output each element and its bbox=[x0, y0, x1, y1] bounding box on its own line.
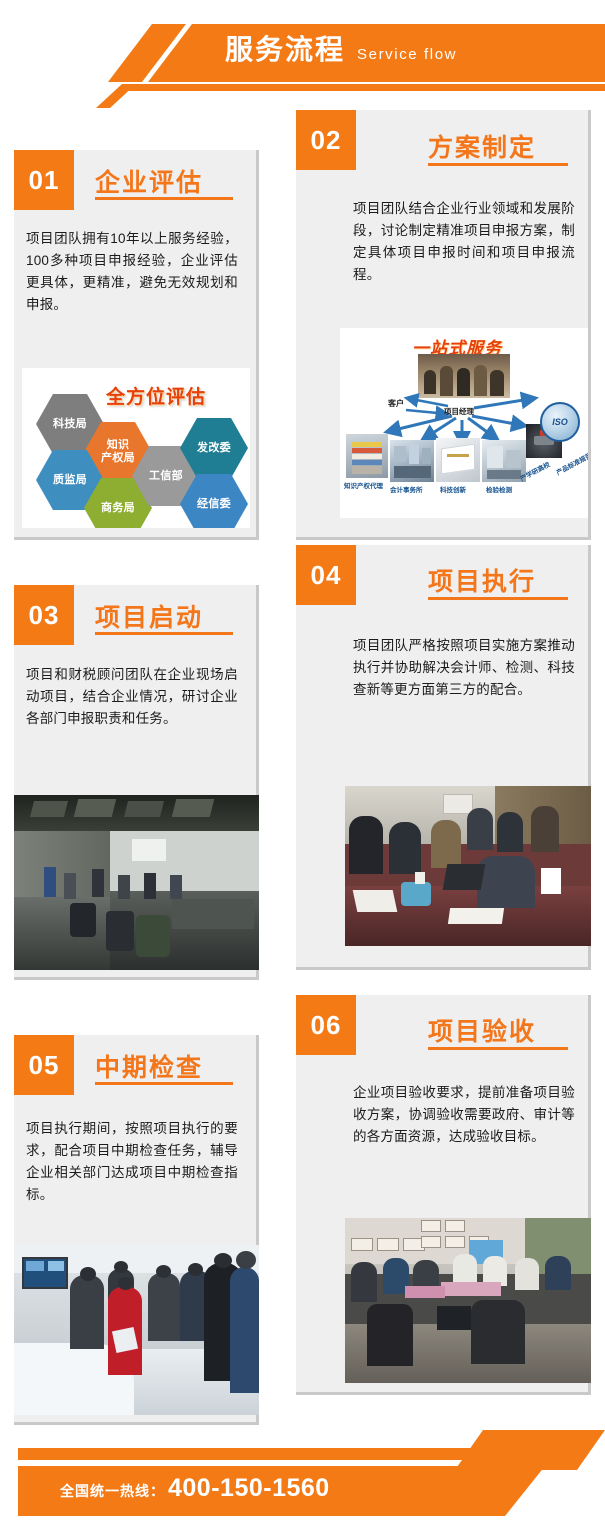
step-badge-05: 05 bbox=[14, 1035, 74, 1095]
service-flow-infographic: 服务流程 Service flow 01 企业评估 项目团队拥有10年以上服务经… bbox=[0, 0, 605, 1538]
hotline-label: 全国统一热线： bbox=[60, 1481, 165, 1501]
step-title-rule-03 bbox=[95, 632, 233, 635]
service-label-innovation: 科技创新 bbox=[440, 484, 466, 494]
service-label-manager: 项目经理 bbox=[444, 406, 474, 417]
footer-diagonal-tail bbox=[440, 1466, 580, 1516]
header-title-group: 服务流程 Service flow bbox=[225, 36, 457, 64]
step-title-rule-06 bbox=[428, 1047, 568, 1050]
page-footer: 全国统一热线： 400-150-1560 bbox=[0, 1430, 605, 1538]
step-photo-03 bbox=[14, 795, 259, 970]
step-title-03: 项目启动 bbox=[95, 598, 203, 634]
step-title-rule-05 bbox=[95, 1082, 233, 1085]
step-title-04: 项目执行 bbox=[428, 562, 536, 598]
iso-seal-icon: ISO bbox=[540, 402, 580, 442]
step-photo-05 bbox=[14, 1245, 259, 1415]
hotline-group: 全国统一热线： 400-150-1560 bbox=[60, 1474, 330, 1503]
step-title-rule-04 bbox=[428, 597, 568, 600]
step-body-04: 项目团队严格按照项目实施方案推动执行并协助解决会计师、检测、科技查新等更方面第三… bbox=[353, 635, 575, 701]
service-label-customer: 客户 bbox=[388, 398, 404, 409]
header-stripe bbox=[118, 84, 605, 100]
service-photo-accounting bbox=[390, 440, 434, 482]
service-label-accounting: 会计事务所 bbox=[390, 484, 423, 494]
step-title-05: 中期检查 bbox=[95, 1048, 203, 1084]
step-photo-06 bbox=[345, 1218, 591, 1383]
step-title-06: 项目验收 bbox=[428, 1012, 536, 1048]
page-header: 服务流程 Service flow bbox=[0, 0, 605, 108]
service-photo-innovation bbox=[436, 438, 480, 482]
step-title-rule-01 bbox=[95, 197, 233, 200]
step-title-01: 企业评估 bbox=[95, 163, 203, 199]
step-badge-04: 04 bbox=[296, 545, 356, 605]
one-stop-service-diagram: 一站式服务 客户 项目经理 bbox=[340, 328, 588, 518]
hotline-number[interactable]: 400-150-1560 bbox=[168, 1474, 330, 1503]
step-body-03: 项目和财税顾问团队在企业现场启动项目，结合企业情况，研讨企业各部门申报职责和任务… bbox=[26, 664, 238, 730]
service-photo-ip bbox=[346, 434, 388, 478]
page-subtitle: Service flow bbox=[357, 46, 457, 63]
step-badge-03: 03 bbox=[14, 585, 74, 645]
step-badge-01: 01 bbox=[14, 150, 74, 210]
step-title-rule-02 bbox=[428, 163, 568, 166]
service-label-ip: 知识产权代理 bbox=[344, 480, 383, 490]
service-label-inspection: 检验检测 bbox=[486, 484, 512, 494]
hexagon-diagram-title: 全方位评估 bbox=[106, 382, 206, 409]
step-body-05: 项目执行期间，按照项目执行的要求，配合项目中期检查任务，辅导企业相关部门达成项目… bbox=[26, 1118, 238, 1205]
page-title: 服务流程 bbox=[225, 36, 345, 64]
step-badge-02: 02 bbox=[296, 110, 356, 170]
step-body-02: 项目团队结合企业行业领域和发展阶段，讨论制定精准项目申报方案，制定具体项目申报时… bbox=[353, 198, 575, 285]
step-title-02: 方案制定 bbox=[428, 128, 536, 164]
step-badge-06: 06 bbox=[296, 995, 356, 1055]
step-photo-04 bbox=[345, 786, 591, 946]
footer-stripe bbox=[18, 1448, 580, 1460]
step-body-01: 项目团队拥有10年以上服务经验，100多种项目申报经验，企业评估更具体，更精准，… bbox=[26, 228, 238, 315]
step-body-06: 企业项目验收要求，提前准备项目验收方案，协调验收需要政府、审计等的各方面资源，达… bbox=[353, 1082, 575, 1148]
hexagon-diagram: 全方位评估 科技局 知识 产权局 质监局 商务局 工信部 发改委 经信委 bbox=[22, 368, 250, 528]
